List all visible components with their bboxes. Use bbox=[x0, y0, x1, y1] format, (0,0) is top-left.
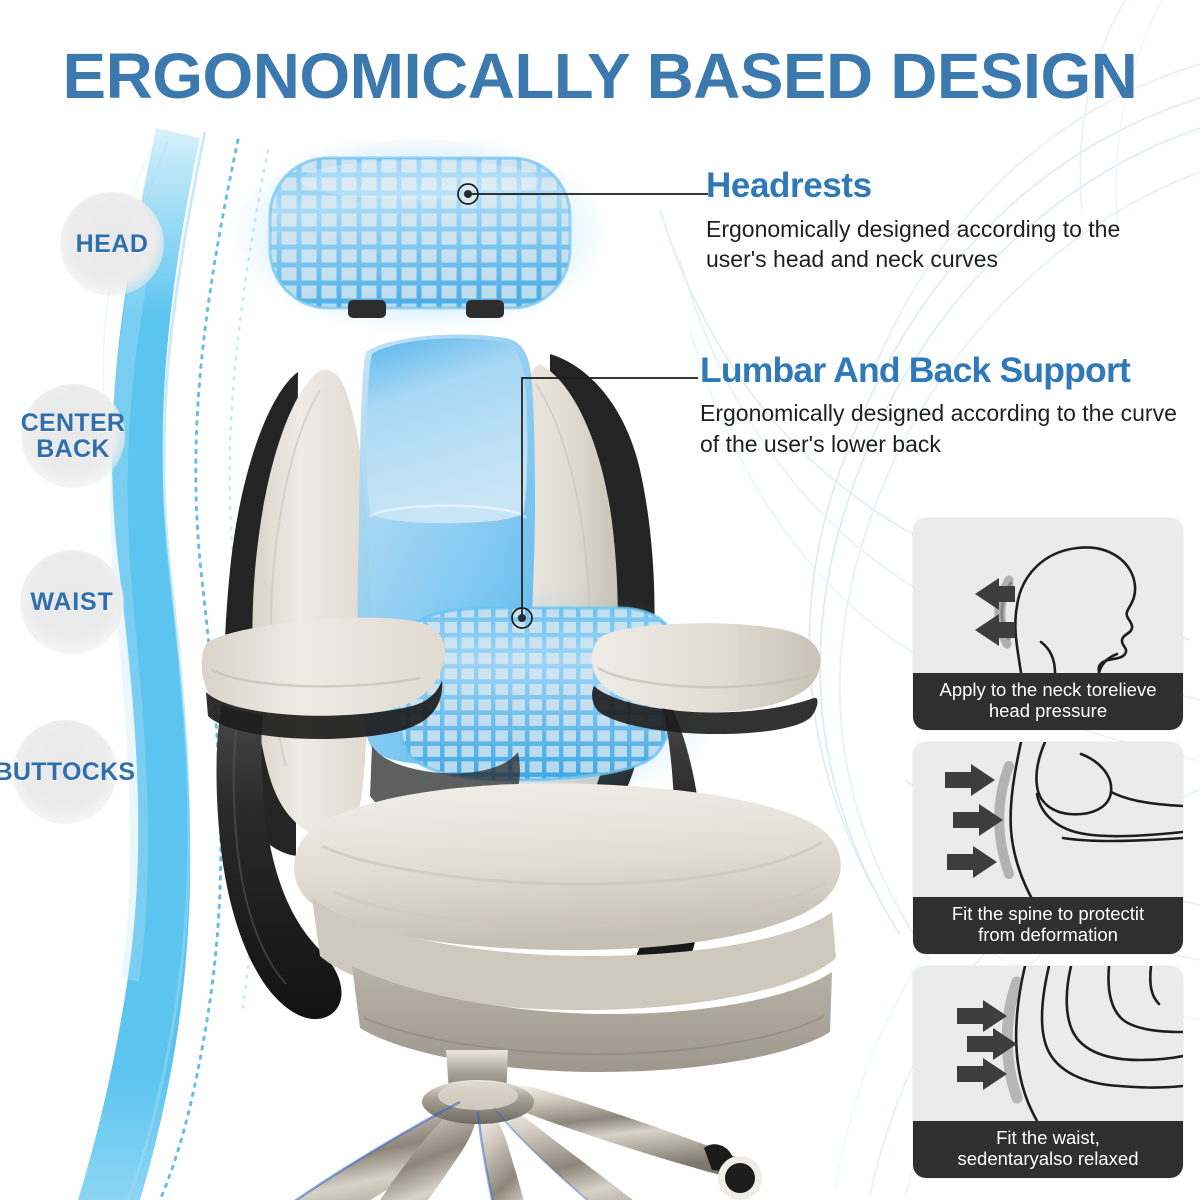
waist-icon bbox=[913, 966, 1183, 1121]
body-label-text: WAIST bbox=[30, 589, 113, 615]
feature-panel-spine: Fit the spine to protectit from deformat… bbox=[913, 742, 1183, 954]
arrow-right bbox=[945, 764, 1003, 878]
spine-back-icon bbox=[913, 742, 1183, 897]
infographic-canvas: ERGONOMICALLY BASED DESIGN HEAD CENTER B… bbox=[0, 0, 1200, 1200]
head-profile-icon bbox=[913, 518, 1183, 673]
page-title: ERGONOMICALLY BASED DESIGN bbox=[0, 44, 1200, 108]
body-label-text: BUTTOCKS bbox=[0, 759, 135, 785]
callout-body: Ergonomically designed according to the … bbox=[700, 398, 1180, 459]
chair-base bbox=[210, 1080, 762, 1200]
panel-illustration bbox=[913, 966, 1183, 1121]
callout-headrests: Headrests Ergonomically designed accordi… bbox=[706, 168, 1186, 274]
panel-caption: Fit the waist, sedentaryalso relaxed bbox=[913, 1121, 1183, 1178]
ergonomic-office-chair-illustration bbox=[120, 140, 940, 1200]
callout-title: Headrests bbox=[706, 168, 1186, 205]
callout-lumbar-back-support: Lumbar And Back Support Ergonomically de… bbox=[700, 352, 1180, 459]
feature-panel-neck: Apply to the neck torelieve head pressur… bbox=[913, 518, 1183, 730]
leader-line-lumbar bbox=[500, 360, 720, 630]
panel-illustration bbox=[913, 518, 1183, 673]
panel-caption: Apply to the neck torelieve head pressur… bbox=[913, 673, 1183, 730]
feature-panel-waist: Fit the waist, sedentaryalso relaxed bbox=[913, 966, 1183, 1178]
body-label-text: HEAD bbox=[76, 231, 149, 257]
panel-illustration bbox=[913, 742, 1183, 897]
body-label-text: CENTER BACK bbox=[21, 410, 126, 462]
callout-body: Ergonomically designed according to the … bbox=[706, 214, 1186, 275]
leader-line-headrest bbox=[440, 170, 730, 220]
callout-title: Lumbar And Back Support bbox=[700, 352, 1180, 389]
panel-caption: Fit the spine to protectit from deformat… bbox=[913, 897, 1183, 954]
